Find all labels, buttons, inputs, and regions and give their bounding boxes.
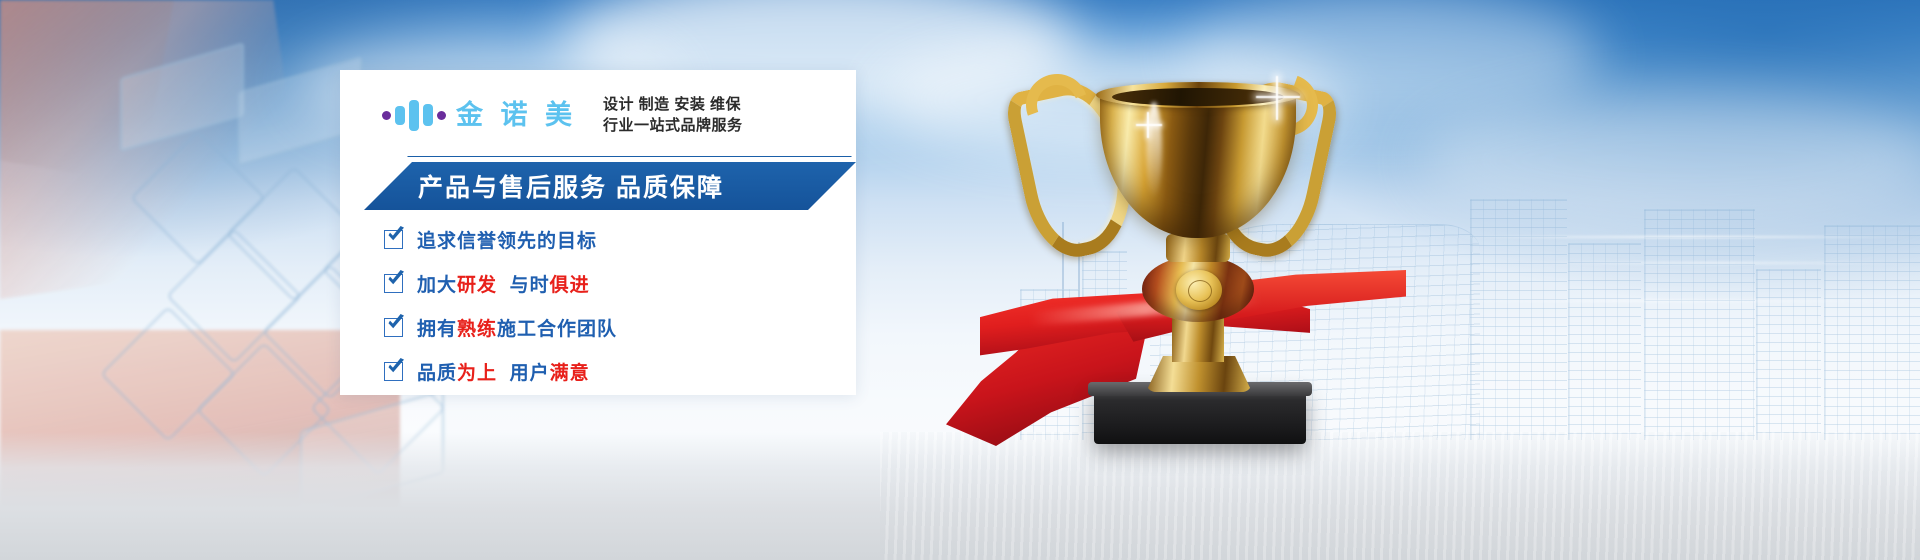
checklist-item: 品质为上 用户满意 — [384, 354, 617, 388]
checklist-item-label: 品质为上 用户满意 — [417, 358, 590, 385]
checklist-text-segment: 满意 — [550, 363, 590, 384]
checkbox-checked-icon[interactable] — [384, 362, 403, 381]
banner-root: 金 诺 美 设计 制造 安装 维保 行业一站式品牌服务 产品与售后服务 品质保障… — [0, 0, 1920, 560]
checklist-text-segment: 熟练 — [457, 319, 497, 340]
gold-trophy-icon — [960, 58, 1430, 478]
tagline-line-2: 行业一站式品牌服务 — [603, 115, 743, 136]
trophy-base — [1094, 388, 1306, 444]
logo-bar — [409, 100, 419, 131]
brand-tagline: 设计 制造 安装 维保 行业一站式品牌服务 — [603, 94, 743, 137]
feature-checklist: 追求信誉领先的目标加大研发 与时俱进拥有熟练施工合作团队品质为上 用户满意 — [384, 222, 617, 398]
headline-ribbon: 产品与售后服务 品质保障 — [356, 156, 856, 210]
sparkle-icon — [1256, 96, 1300, 98]
checkbox-checked-icon[interactable] — [384, 318, 403, 337]
sparkle-icon — [1276, 76, 1278, 120]
checkbox-checked-icon[interactable] — [384, 230, 403, 249]
checklist-item-label: 加大研发 与时俱进 — [417, 270, 590, 297]
checklist-item: 加大研发 与时俱进 — [384, 266, 617, 300]
checklist-text-segment: 俱进 — [550, 275, 590, 296]
trophy-stem — [1172, 316, 1224, 362]
tagline-line-1: 设计 制造 安装 维保 — [603, 94, 743, 115]
sound-wave-logo-mark — [382, 98, 446, 132]
checklist-text-segment: 拥有 — [417, 319, 457, 340]
headline-text: 产品与售后服务 品质保障 — [418, 162, 848, 210]
checklist-text-segment: 追求信誉领先的目标 — [417, 231, 597, 252]
checklist-item-label: 拥有熟练施工合作团队 — [417, 314, 617, 341]
logo-dot-left — [382, 111, 391, 120]
brand-logo[interactable]: 金 诺 美 设计 制造 安装 维保 行业一站式品牌服务 — [382, 94, 743, 137]
logo-dot-right — [437, 111, 446, 120]
trophy-neck — [1166, 234, 1230, 262]
checklist-text-segment: 研发 — [457, 275, 497, 296]
checklist-item-label: 追求信誉领先的目标 — [417, 226, 597, 253]
brand-name: 金 诺 美 — [456, 102, 577, 129]
checklist-text-segment: 用户 — [497, 363, 550, 384]
content-card: 金 诺 美 设计 制造 安装 维保 行业一站式品牌服务 产品与售后服务 品质保障… — [340, 70, 856, 395]
checklist-text-segment: 品质 — [417, 363, 457, 384]
sparkle-icon — [1147, 112, 1149, 138]
checklist-text-segment: 施工合作团队 — [497, 319, 617, 340]
sparkle-icon — [1136, 124, 1162, 126]
logo-bar — [423, 104, 433, 126]
checklist-item: 追求信誉领先的目标 — [384, 222, 617, 256]
trophy-medallion — [1176, 270, 1222, 310]
checklist-text-segment: 为上 — [457, 363, 497, 384]
checkbox-checked-icon[interactable] — [384, 274, 403, 293]
checklist-text-segment: 加大 — [417, 275, 457, 296]
checklist-text-segment: 与时 — [497, 275, 550, 296]
checklist-item: 拥有熟练施工合作团队 — [384, 310, 617, 344]
logo-bar — [395, 106, 405, 125]
